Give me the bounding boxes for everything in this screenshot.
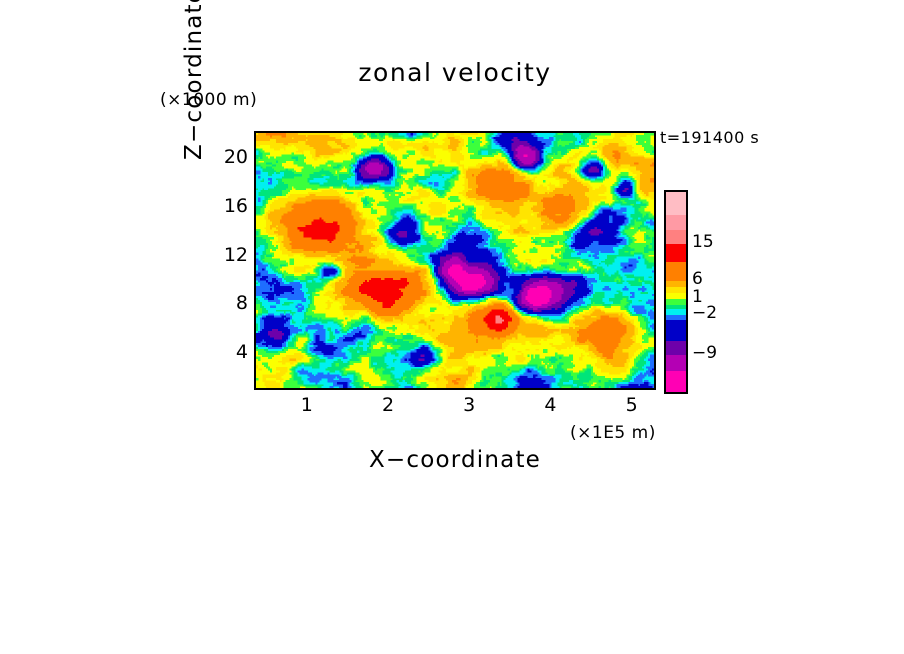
- x-axis-ticks: 12345: [254, 394, 656, 420]
- y-axis-tick-label: 12: [208, 244, 248, 266]
- colorbar-band: [666, 341, 686, 356]
- x-axis-tick-label: 1: [287, 394, 327, 416]
- x-axis-title: X−coordinate: [254, 447, 656, 473]
- colorbar-band: [666, 215, 686, 231]
- y-axis-tick-label: 20: [208, 146, 248, 168]
- y-axis-tick-label: 16: [208, 195, 248, 217]
- colorbar-tick-label: −2: [692, 303, 717, 323]
- colorbar-band: [666, 371, 686, 392]
- y-axis-tick-label: 8: [208, 292, 248, 314]
- page-title: zonal velocity: [254, 58, 656, 87]
- y-axis-ticks: 20161284: [204, 131, 248, 390]
- y-axis-title: Z−coordinate: [181, 0, 207, 160]
- y-axis-unit-label: (×1000 m): [160, 90, 257, 110]
- time-annotation: t=191400 s: [660, 128, 759, 147]
- figure-canvas: zonal velocity (×1000 m) t=191400 s 2016…: [0, 0, 904, 654]
- colorbar-band: [666, 355, 686, 371]
- x-axis-tick-label: 4: [530, 394, 570, 416]
- x-axis-unit-label: (×1E5 m): [570, 423, 656, 443]
- colorbar[interactable]: [664, 190, 688, 394]
- colorbar-tick-label: 6: [692, 269, 703, 289]
- contour-field: [256, 133, 654, 388]
- colorbar-tick-label: −9: [692, 343, 717, 363]
- colorbar-band: [666, 192, 686, 215]
- colorbar-band: [666, 262, 686, 281]
- colorbar-band: [666, 244, 686, 261]
- x-axis-tick-label: 2: [368, 394, 408, 416]
- colorbar-band: [666, 230, 686, 244]
- contour-plot-area[interactable]: [254, 131, 656, 390]
- colorbar-band: [666, 320, 686, 341]
- colorbar-labels: 1561−2−9: [692, 190, 762, 394]
- colorbar-tick-label: 15: [692, 232, 714, 252]
- x-axis-tick-label: 5: [612, 394, 652, 416]
- y-axis-tick-label: 4: [208, 341, 248, 363]
- x-axis-tick-label: 3: [449, 394, 489, 416]
